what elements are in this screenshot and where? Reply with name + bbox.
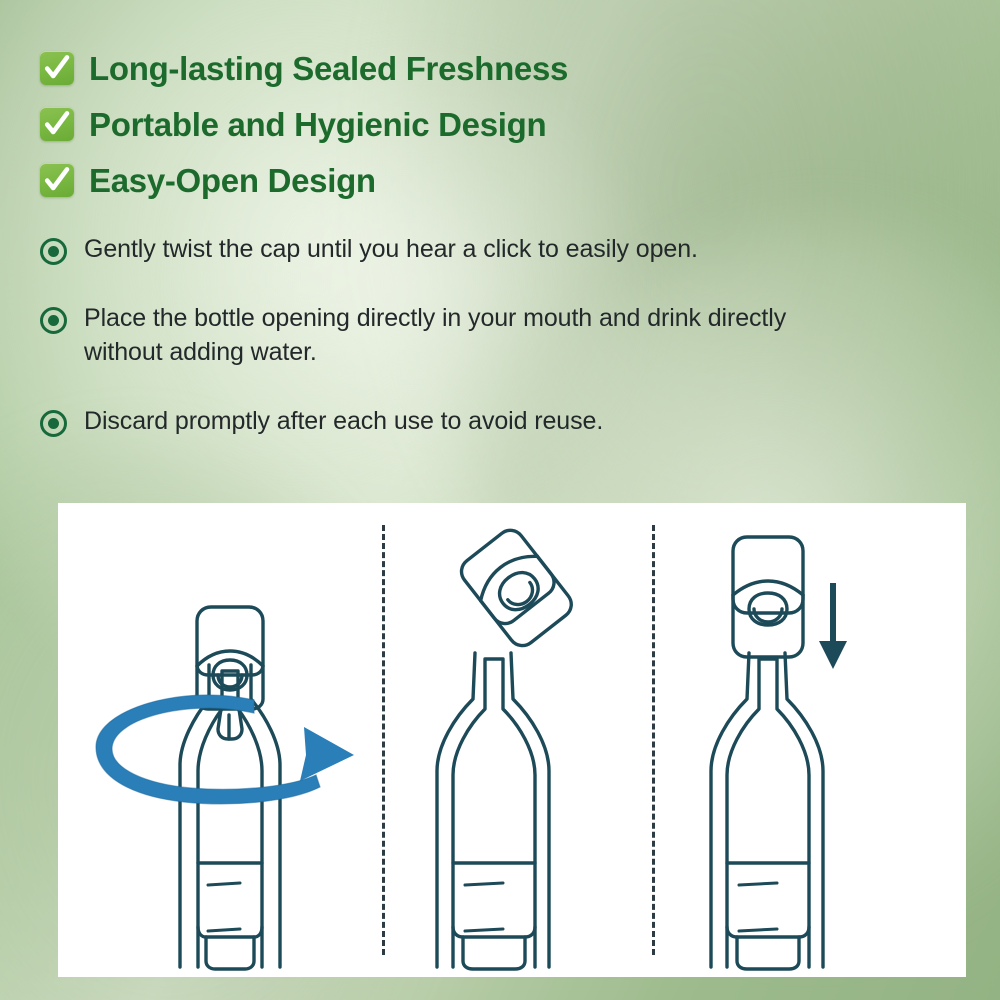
target-dot-icon xyxy=(40,410,67,437)
recap-press-step xyxy=(655,503,966,977)
panel-divider xyxy=(382,525,385,955)
feature-label: Long-lasting Sealed Freshness xyxy=(89,52,568,85)
feature-item: Long-lasting Sealed Freshness xyxy=(40,40,900,96)
instruction-item: Discard promptly after each use to avoid… xyxy=(40,404,830,439)
instruction-text: Gently twist the cap until you hear a cl… xyxy=(84,232,698,267)
feature-label: Easy-Open Design xyxy=(89,164,376,197)
product-feature-page: Long-lasting Sealed Freshness Portable a… xyxy=(0,0,1000,1000)
instruction-text: Place the bottle opening directly in you… xyxy=(84,301,804,370)
check-square-icon xyxy=(40,107,74,141)
feature-item: Portable and Hygienic Design xyxy=(40,96,900,152)
twist-cap-step xyxy=(58,503,382,977)
illustration-panel xyxy=(58,503,966,977)
target-dot-icon xyxy=(40,238,67,265)
panel-divider xyxy=(652,525,655,955)
feature-list: Long-lasting Sealed Freshness Portable a… xyxy=(40,40,900,208)
instruction-list: Gently twist the cap until you hear a cl… xyxy=(40,232,830,438)
instruction-item: Place the bottle opening directly in you… xyxy=(40,301,830,370)
feature-label: Portable and Hygienic Design xyxy=(89,108,546,141)
rotate-arrow-icon xyxy=(96,695,354,804)
feature-item: Easy-Open Design xyxy=(40,152,900,208)
check-square-icon xyxy=(40,51,74,85)
remove-cap-step xyxy=(385,503,652,977)
instruction-text: Discard promptly after each use to avoid… xyxy=(84,404,603,439)
target-dot-icon xyxy=(40,307,67,334)
down-arrow-icon xyxy=(819,583,847,669)
check-square-icon xyxy=(40,163,74,197)
instruction-item: Gently twist the cap until you hear a cl… xyxy=(40,232,830,267)
